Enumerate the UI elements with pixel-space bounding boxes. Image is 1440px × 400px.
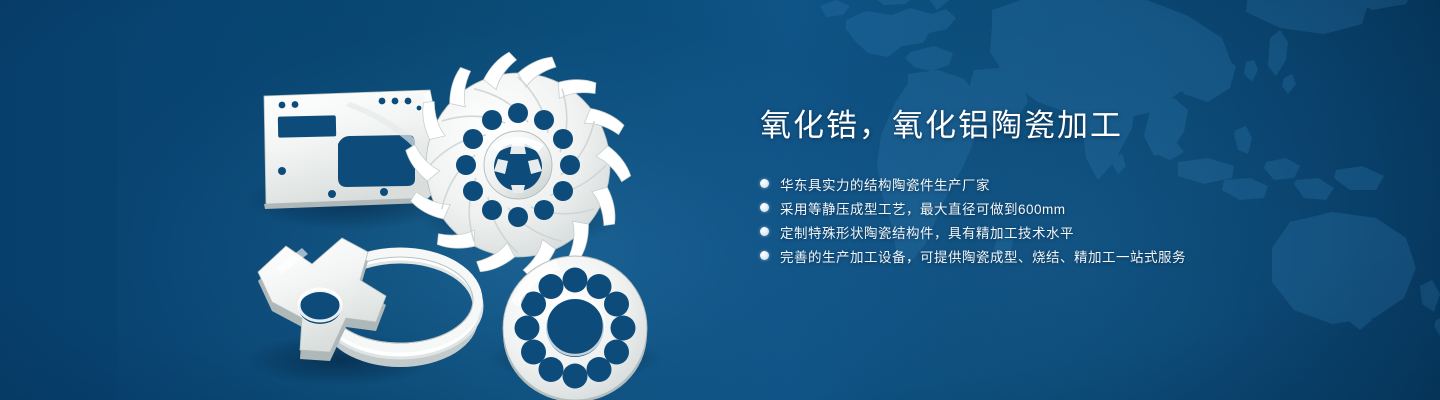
list-item: 采用等静压成型工艺，最大直径可做到600mm xyxy=(760,196,1380,220)
list-item-label: 采用等静压成型工艺，最大直径可做到600mm xyxy=(780,198,1066,218)
bullet-dot-icon xyxy=(760,251,769,260)
bullet-dot-icon xyxy=(760,203,769,212)
bullet-dot-icon xyxy=(760,227,769,236)
list-item-label: 完善的生产加工设备，可提供陶瓷成型、烧结、精加工一站式服务 xyxy=(780,246,1186,266)
ceramic-impeller-shape xyxy=(405,51,631,279)
bullet-dot-icon xyxy=(760,179,769,188)
page-title: 氧化锆，氧化铝陶瓷加工 xyxy=(760,108,1380,144)
list-item: 完善的生产加工设备，可提供陶瓷成型、烧结、精加工一站式服务 xyxy=(760,244,1380,268)
promo-banner: 氧化锆，氧化铝陶瓷加工 华东具实力的结构陶瓷件生产厂家 采用等静压成型工艺，最大… xyxy=(0,0,1440,400)
ceramic-plate-shape xyxy=(264,90,446,209)
list-item: 定制特殊形状陶瓷结构件，具有精加工技术水平 xyxy=(760,220,1380,244)
ceramic-holed-disc-shape xyxy=(503,256,647,400)
copy-block: 氧化锆，氧化铝陶瓷加工 华东具实力的结构陶瓷件生产厂家 采用等静压成型工艺，最大… xyxy=(760,108,1380,268)
list-item: 华东具实力的结构陶瓷件生产厂家 xyxy=(760,172,1380,196)
list-item-label: 华东具实力的结构陶瓷件生产厂家 xyxy=(780,174,990,194)
product-photo-group xyxy=(230,40,720,380)
feature-list: 华东具实力的结构陶瓷件生产厂家 采用等静压成型工艺，最大直径可做到600mm 定… xyxy=(760,172,1380,268)
list-item-label: 定制特殊形状陶瓷结构件，具有精加工技术水平 xyxy=(780,222,1074,242)
